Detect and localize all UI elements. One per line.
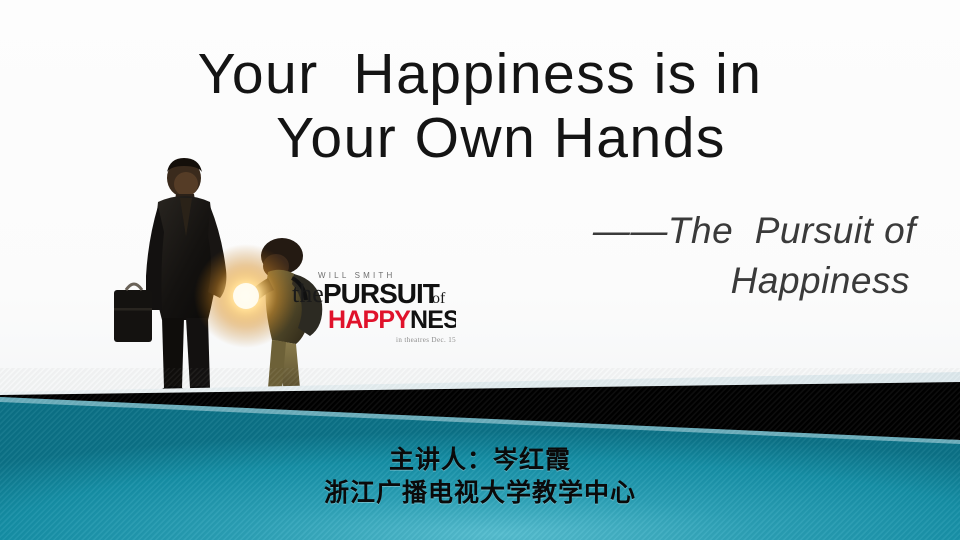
presenter-organization-line: 浙江广播电视大学教学中心 xyxy=(0,476,960,509)
subtitle-line-1: ——The Pursuit of xyxy=(0,206,916,256)
subtitle-line-2: Happiness xyxy=(0,256,916,306)
presenter-info: 主讲人：岑红霞 浙江广播电视大学教学中心 xyxy=(0,443,960,509)
title-line-2: Your Own Hands xyxy=(0,106,960,170)
poster-logo-happy: HAPPY xyxy=(328,306,411,334)
slide-title: Your Happiness is in Your Own Hands xyxy=(0,42,960,170)
poster-logo-ness: NESS xyxy=(410,306,456,334)
slide-subtitle: ——The Pursuit of Happiness xyxy=(0,206,960,306)
poster-tagline: in theatres Dec. 15 xyxy=(396,336,456,344)
title-line-1: Your Happiness is in xyxy=(0,42,960,106)
presentation-slide: WILL SMITH the PURSUIT of HAPPY NESS in … xyxy=(0,0,960,540)
presenter-name-line: 主讲人：岑红霞 xyxy=(0,443,960,476)
